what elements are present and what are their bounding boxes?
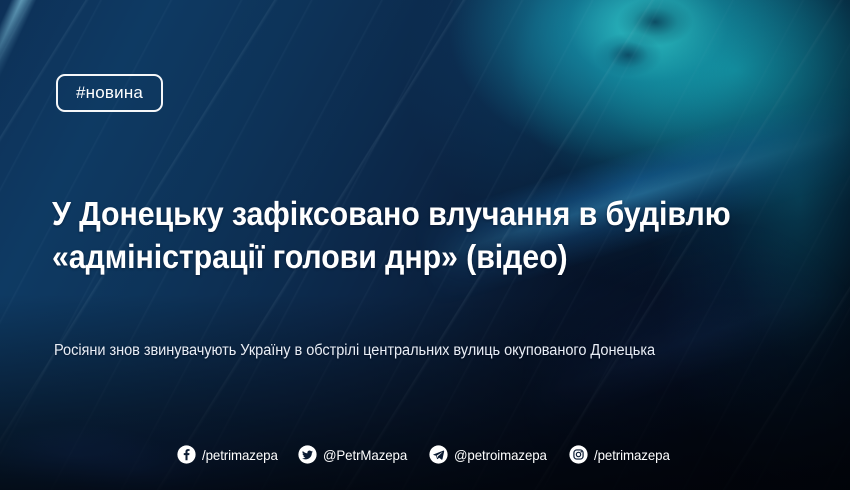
hashtag-badge[interactable]: #новина — [56, 74, 163, 112]
page-title: У Донецьку зафіксовано влучання в будівл… — [52, 193, 733, 279]
social-handle-facebook: /petrimazepa — [202, 448, 278, 462]
social-item-instagram[interactable]: /petrimazepa — [569, 445, 674, 464]
instagram-icon — [569, 445, 588, 464]
page-subtitle: Росіяни знов звинувачують Україну в обст… — [54, 341, 768, 362]
card-content: #новина У Донецьку зафіксовано влучання … — [0, 0, 850, 490]
social-item-facebook[interactable]: /petrimazepa — [177, 445, 282, 464]
social-handle-twitter: @PetrMazepa — [323, 448, 407, 462]
facebook-icon — [177, 445, 196, 464]
social-item-telegram[interactable]: @petroimazepa — [429, 445, 552, 464]
news-card: #новина У Донецьку зафіксовано влучання … — [0, 0, 850, 490]
social-bar: /petrimazepa @PetrMazepa — [0, 445, 850, 464]
social-handle-instagram: /petrimazepa — [594, 448, 670, 462]
twitter-icon — [298, 445, 317, 464]
social-handle-telegram: @petroimazepa — [454, 448, 547, 462]
social-item-twitter[interactable]: @PetrMazepa — [298, 445, 412, 464]
telegram-icon — [429, 445, 448, 464]
